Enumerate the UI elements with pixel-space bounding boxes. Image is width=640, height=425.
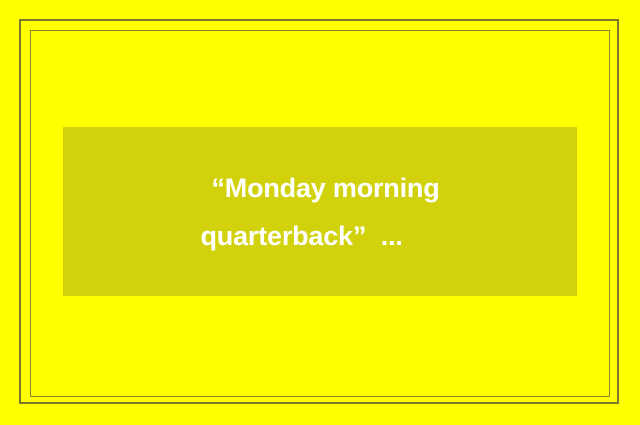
caption-text-block: “Monday morning quarterback” ... [63, 127, 577, 296]
quote-card-canvas: “Monday morning quarterback” ... [0, 0, 640, 425]
caption-line-2: quarterback” ... [201, 212, 440, 260]
caption-lines: “Monday morning quarterback” ... [201, 164, 440, 260]
caption-line-1: “Monday morning [201, 164, 440, 212]
